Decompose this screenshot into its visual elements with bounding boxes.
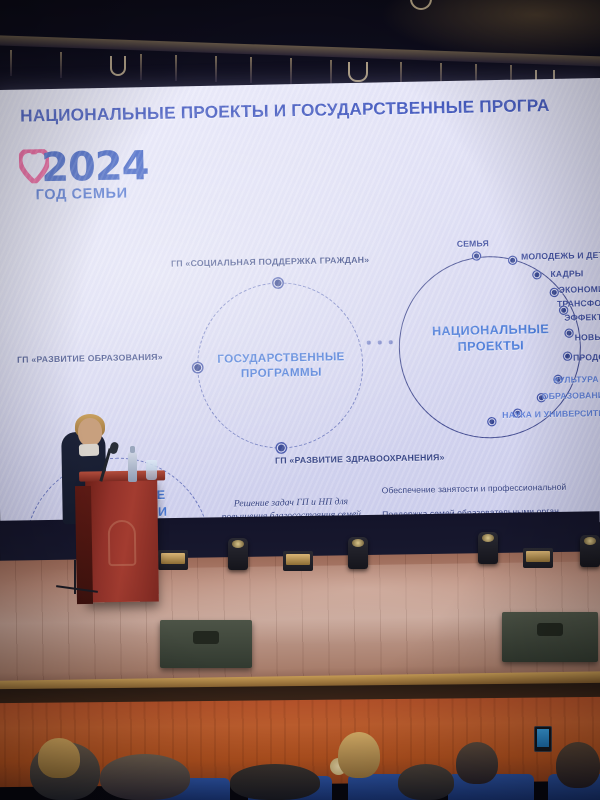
np-node-7 (564, 353, 571, 360)
smartphone-icon (534, 726, 552, 752)
np-tag-science: НАУКА И УНИВЕРСИТЕТЫ (502, 408, 600, 420)
np-tag-longevity: ПРОДОЛЖИТЕЛЬНАЯ (573, 351, 600, 363)
gov-programs-label: ГОСУДАРСТВЕННЫЕ ПРОГРАММЫ (201, 349, 362, 382)
hanging-light-icon (348, 62, 368, 82)
water-bottle (128, 452, 137, 482)
np-node-11 (488, 418, 495, 425)
truss-drop (60, 52, 62, 78)
truss-drop (290, 58, 292, 84)
gp-tag-social-support: ГП «СОЦИАЛЬНАЯ ПОДДЕРЖКА ГРАЖДАН» (171, 255, 369, 269)
moving-head-light-icon (228, 538, 248, 570)
logo-year: 2024 (41, 143, 149, 191)
speaker-head (78, 418, 102, 446)
np-tag-effective: ЭФФЕКТИВНАЯ (564, 311, 600, 322)
truss-drop (175, 55, 177, 81)
speaker-collar (79, 444, 99, 457)
audience-head (230, 764, 320, 800)
podium (85, 478, 159, 603)
np-tag-transformation: ТРАНСФОРМАЦИЯ (557, 297, 600, 309)
np-node-3 (533, 271, 540, 278)
stage-monitor (502, 612, 598, 662)
hanging-light-icon (110, 56, 126, 76)
mic-tripod (56, 560, 96, 600)
year-of-family-logo: 2024 ГОД СЕМЬИ (15, 147, 148, 218)
audience-head (398, 764, 454, 800)
auditorium-photo: НАЦИОНАЛЬНЫЕ ПРОЕКТЫ И ГОСУДАРСТВЕННЫЕ П… (0, 0, 600, 800)
audience-head (338, 732, 380, 778)
par-can-light-icon (283, 551, 313, 571)
gp-tag-education: ГП «РАЗВИТИЕ ОБРАЗОВАНИЯ» (17, 352, 163, 365)
gp-tag-healthcare: ГП «РАЗВИТИЕ ЗДРАВООХРАНЕНИЯ» (275, 452, 445, 465)
national-projects-label: НАЦИОНАЛЬНЫЕ ПРОЕКТЫ (404, 320, 577, 355)
np-node-4 (551, 289, 558, 296)
np-tag-staff: КАДРЫ (550, 268, 583, 279)
truss-drop (10, 50, 12, 76)
np-tag-new: НОВЫЕ (575, 332, 600, 343)
logo-subtitle: ГОД СЕМЬИ (36, 185, 128, 203)
truss-drop (215, 56, 217, 82)
truss-drop (140, 54, 142, 80)
moving-head-light-icon (478, 532, 498, 564)
audience-head (38, 738, 80, 778)
gp-node-bottom (277, 443, 286, 452)
moving-head-light-icon (580, 535, 600, 567)
moving-head-light-icon (348, 537, 368, 569)
np-tag-economy: ЭКОНОМИКА (559, 284, 600, 295)
drinking-glass (146, 460, 157, 480)
par-can-light-icon (523, 548, 553, 568)
np-tag-family: СЕМЬЯ (457, 238, 489, 249)
audience-head (556, 742, 600, 788)
truss-drop (330, 60, 332, 86)
audience-head (100, 754, 190, 800)
slide-title: НАЦИОНАЛЬНЫЕ ПРОЕКТЫ И ГОСУДАРСТВЕННЫЕ П… (20, 93, 600, 126)
audience-head (456, 742, 498, 784)
par-can-light-icon (158, 550, 188, 570)
np-tag-education: ОБРАЗОВАНИЕ (542, 390, 600, 401)
truss-drop (250, 57, 252, 83)
stage-monitor (160, 620, 252, 668)
circle-connector (367, 338, 397, 347)
np-tag-youth: МОЛОДЕЖЬ И ДЕТИ (521, 250, 600, 262)
np-node-1 (473, 252, 480, 259)
np-node-2 (509, 257, 516, 264)
np-tag-culture: КУЛЬТУРА (553, 374, 598, 385)
podium-emblem (108, 520, 137, 566)
